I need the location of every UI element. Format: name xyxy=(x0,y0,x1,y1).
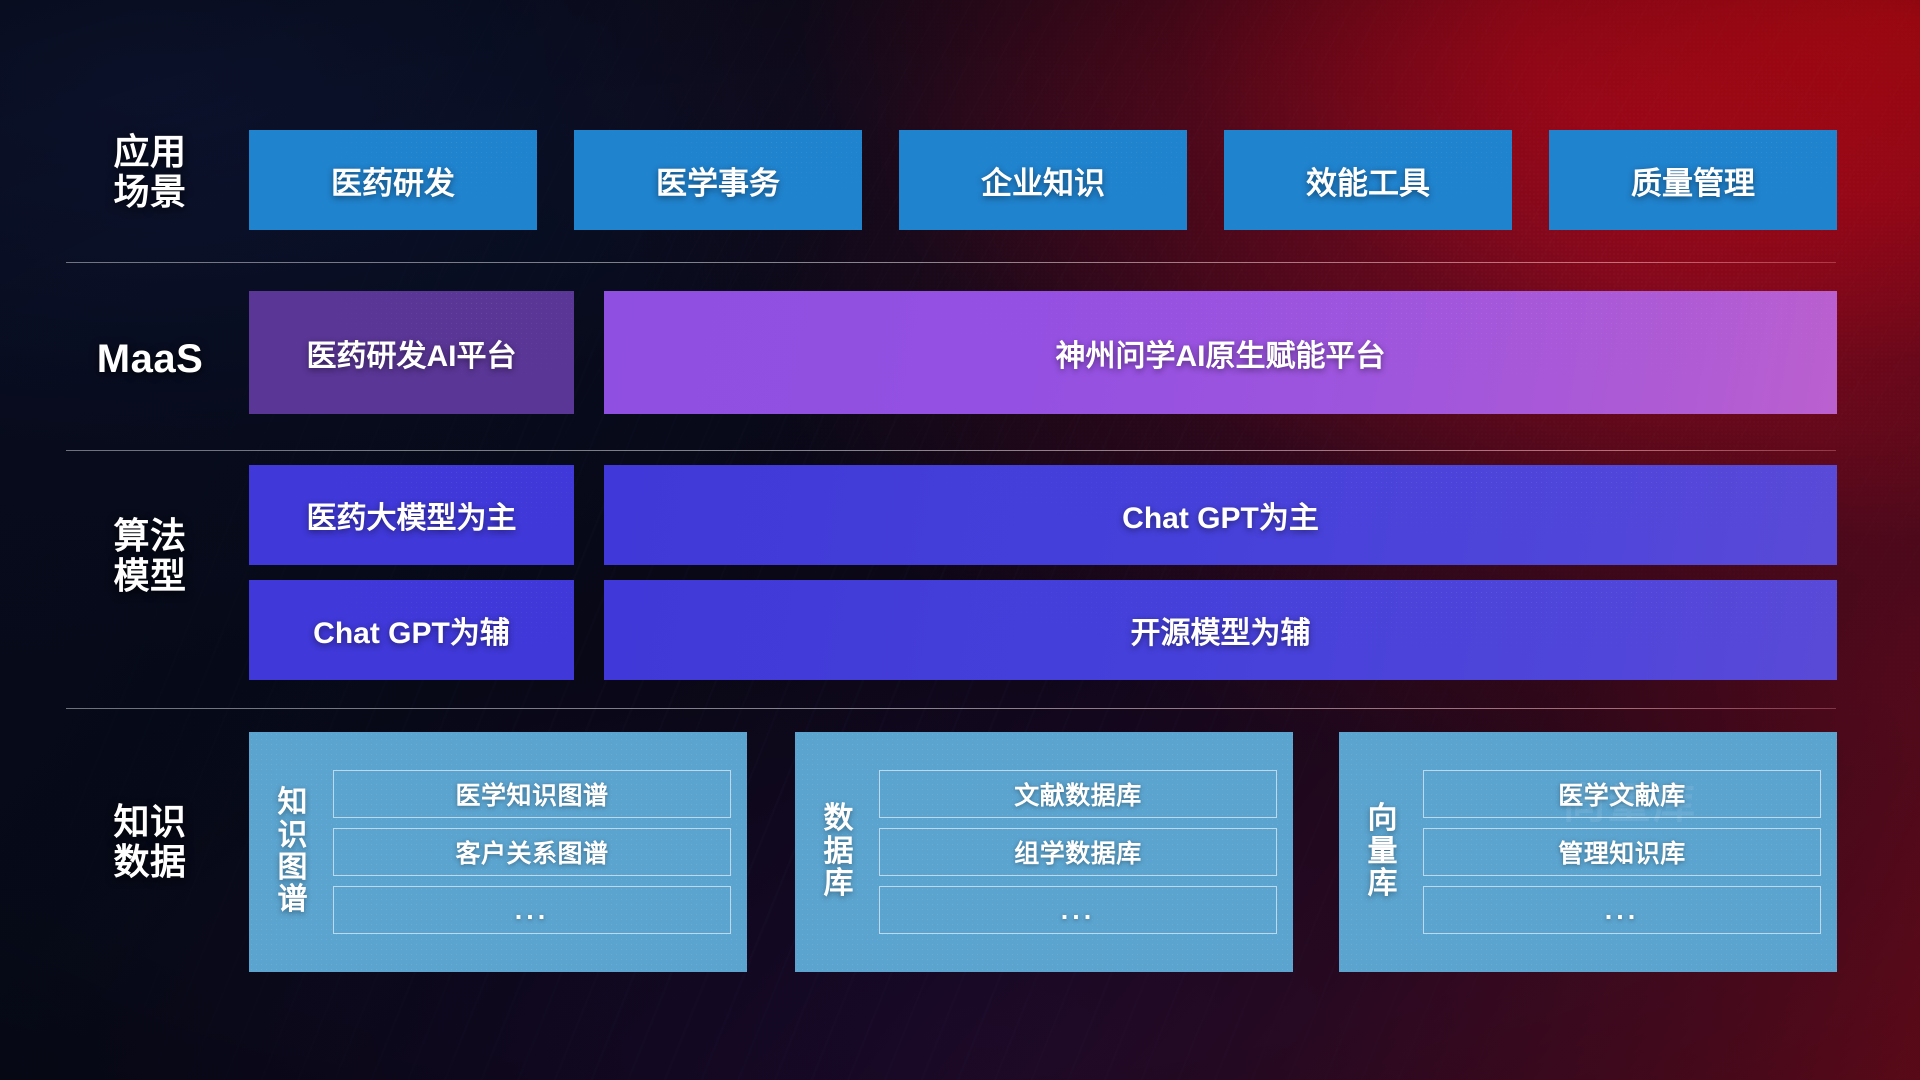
row-label-algo-line-1: 算法 xyxy=(66,516,234,556)
algo-right-label-1: Chat GPT为主 xyxy=(1122,493,1319,537)
divider-1 xyxy=(66,262,1836,263)
algo-right-label-2: 开源模型为辅 xyxy=(1131,608,1311,652)
knowledge-card-2-title: 数据库 xyxy=(813,803,865,900)
app-scenario-box-3[interactable]: 企业知识 xyxy=(899,130,1187,230)
row-label-knowledge-data: 知识 数据 xyxy=(66,802,234,883)
row-label-algorithm-model: 算法 模型 xyxy=(66,516,234,597)
algo-left-label-1: 医药大模型为主 xyxy=(307,493,517,537)
knowledge-card-2-item-1[interactable]: 文献数据库 xyxy=(879,770,1277,818)
knowledge-card-2-item-3[interactable]: ... xyxy=(879,886,1277,934)
app-scenario-box-5[interactable]: 质量管理 xyxy=(1549,130,1837,230)
row-label-line-1: 应用 xyxy=(66,132,234,172)
app-scenario-label-5: 质量管理 xyxy=(1631,158,1755,203)
knowledge-card-1-item-3[interactable]: ... xyxy=(333,886,731,934)
divider-3 xyxy=(66,708,1836,709)
maas-box-right[interactable]: 神州问学AI原生赋能平台 xyxy=(604,291,1837,414)
app-scenario-box-2[interactable]: 医学事务 xyxy=(574,130,862,230)
knowledge-card-2-items: 文献数据库 组学数据库 ... xyxy=(879,770,1277,934)
row-label-maas-text: MaaS xyxy=(66,337,234,382)
algo-box-left-2[interactable]: Chat GPT为辅 xyxy=(249,580,574,680)
knowledge-card-3-item-3[interactable]: ... xyxy=(1423,886,1821,934)
app-scenario-box-1[interactable]: 医药研发 xyxy=(249,130,537,230)
maas-right-label: 神州问学AI原生赋能平台 xyxy=(1056,331,1386,375)
knowledge-card-3-title: 向量库 xyxy=(1357,803,1409,900)
maas-left-label: 医药研发AI平台 xyxy=(307,331,517,375)
knowledge-card-2[interactable]: 数据库 文献数据库 组学数据库 ... xyxy=(795,732,1293,972)
algo-box-left-1[interactable]: 医药大模型为主 xyxy=(249,465,574,565)
knowledge-card-3-item-1[interactable]: 医学文献库 xyxy=(1423,770,1821,818)
algo-box-right-1[interactable]: Chat GPT为主 xyxy=(604,465,1837,565)
row-label-knowledge-line-2: 数据 xyxy=(66,842,234,882)
app-scenario-label-2: 医学事务 xyxy=(656,158,780,203)
knowledge-card-1-item-2[interactable]: 客户关系图谱 xyxy=(333,828,731,876)
row-label-application-scenario: 应用 场景 xyxy=(66,132,234,213)
algo-box-right-2[interactable]: 开源模型为辅 xyxy=(604,580,1837,680)
slide-canvas: 应用 场景 医药研发 医学事务 企业知识 效能工具 质量管理 MaaS 医药研发… xyxy=(0,0,1920,1080)
knowledge-card-1-items: 医学知识图谱 客户关系图谱 ... xyxy=(333,770,731,934)
knowledge-card-3-items: 医学文献库 管理知识库 ... xyxy=(1423,770,1821,934)
algo-left-label-2: Chat GPT为辅 xyxy=(313,608,510,652)
app-scenario-box-4[interactable]: 效能工具 xyxy=(1224,130,1512,230)
knowledge-card-1-item-1[interactable]: 医学知识图谱 xyxy=(333,770,731,818)
row-label-line-2: 场景 xyxy=(66,172,234,212)
knowledge-card-3[interactable]: 向量库 医学文献库 管理知识库 ... xyxy=(1339,732,1837,972)
knowledge-card-1[interactable]: 知识图谱 医学知识图谱 客户关系图谱 ... xyxy=(249,732,747,972)
divider-2 xyxy=(66,450,1836,451)
app-scenario-label-4: 效能工具 xyxy=(1306,158,1430,203)
row-label-maas: MaaS xyxy=(66,337,234,382)
app-scenario-label-3: 企业知识 xyxy=(981,158,1105,203)
knowledge-card-3-item-2[interactable]: 管理知识库 xyxy=(1423,828,1821,876)
knowledge-card-2-item-2[interactable]: 组学数据库 xyxy=(879,828,1277,876)
row-label-knowledge-line-1: 知识 xyxy=(66,802,234,842)
row-label-algo-line-2: 模型 xyxy=(66,556,234,596)
knowledge-card-1-title: 知识图谱 xyxy=(267,787,319,917)
app-scenario-label-1: 医药研发 xyxy=(331,158,455,203)
maas-box-left[interactable]: 医药研发AI平台 xyxy=(249,291,574,414)
